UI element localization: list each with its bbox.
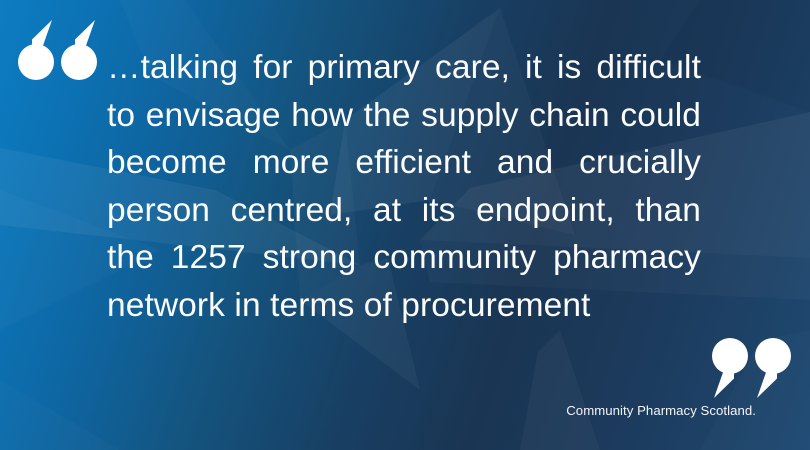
quote-open-mark-right	[61, 20, 97, 80]
quote-body-text: …talking for primary care, it is difficu…	[107, 44, 701, 329]
quote-close-mark-right	[755, 338, 791, 398]
quote-open-icon	[18, 20, 98, 82]
quote-open-mark-left	[18, 20, 54, 80]
quote-card: …talking for primary care, it is difficu…	[0, 0, 810, 450]
quote-close-icon	[712, 338, 792, 400]
quote-close-mark-left	[712, 338, 748, 398]
quote-attribution: Community Pharmacy Scotland.	[551, 402, 756, 419]
